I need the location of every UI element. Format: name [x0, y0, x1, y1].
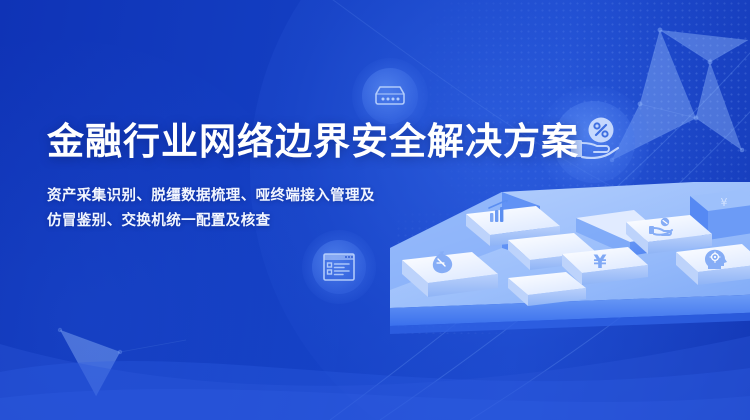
banner-root: 金融行业网络边界安全解决方案 资产采集识别、脱缰数据梳理、哑终端接入管理及 仿冒… [0, 0, 750, 420]
yen-symbol: ¥ [593, 251, 606, 273]
subtitle-line-2: 仿冒鉴别、交换机统一配置及核查 [47, 209, 517, 234]
headline-block: 金融行业网络边界安全解决方案 资产采集识别、脱缰数据梳理、哑终端接入管理及 仿冒… [47, 119, 517, 234]
yen-small-symbol: ¥ [721, 196, 728, 209]
page-title: 金融行业网络边界安全解决方案 [47, 119, 517, 165]
page-subtitle: 资产采集识别、脱缰数据梳理、哑终端接入管理及 仿冒鉴别、交换机统一配置及核查 [47, 184, 517, 234]
network-switch-icon [372, 82, 408, 110]
checklist-window-icon [322, 251, 356, 283]
subtitle-line-1: 资产采集识别、脱缰数据梳理、哑终端接入管理及 [47, 184, 517, 209]
badge-checklist-window [302, 230, 376, 304]
